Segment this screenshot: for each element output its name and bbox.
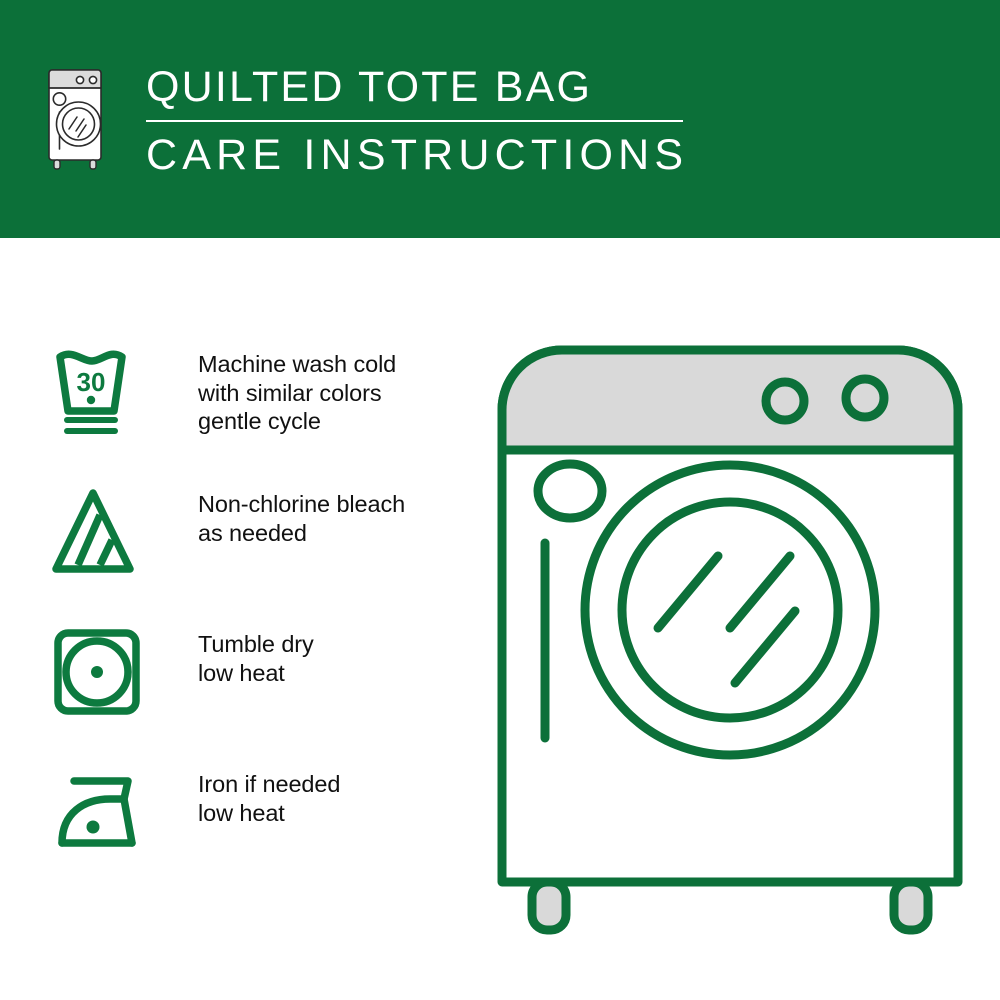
care-row-iron: Iron if needed low heat — [52, 763, 472, 903]
page-subtitle: CARE INSTRUCTIONS — [146, 131, 688, 179]
non-chlorine-bleach-icon — [52, 483, 158, 583]
wash-temperature-label: 30 — [77, 367, 106, 397]
page-header: QUILTED TOTE BAG CARE INSTRUCTIONS — [0, 0, 1000, 238]
care-row-tumble-dry: Tumble dry low heat — [52, 623, 472, 763]
page-title: QUILTED TOTE BAG — [146, 62, 688, 112]
washer-knob-right — [846, 379, 884, 417]
care-label-iron: Iron if needed low heat — [198, 763, 340, 827]
header-title-block: QUILTED TOTE BAG CARE INSTRUCTIONS — [146, 62, 688, 179]
washer-door-inner — [622, 502, 838, 718]
care-label-bleach: Non-chlorine bleach as needed — [198, 483, 405, 547]
washer-dispenser — [538, 464, 602, 518]
care-row-machine-wash: 30 Machine wash cold with similar colors… — [52, 343, 472, 483]
tumble-dry-low-icon — [52, 623, 158, 723]
wash-30-gentle-icon: 30 — [52, 343, 158, 443]
washer-leg-left — [532, 882, 566, 930]
washing-machine-icon — [44, 67, 106, 171]
front-load-washing-machine-illustration — [490, 338, 970, 938]
washer-leg-right — [894, 882, 928, 930]
washer-knob-left — [766, 382, 804, 420]
title-divider — [146, 120, 683, 122]
care-label-tumble-dry: Tumble dry low heat — [198, 623, 314, 687]
care-row-bleach: Non-chlorine bleach as needed — [52, 483, 472, 623]
page-body: 30 Machine wash cold with similar colors… — [0, 238, 1000, 1000]
care-label-machine-wash: Machine wash cold with similar colors ge… — [198, 343, 396, 436]
care-instruction-list: 30 Machine wash cold with similar colors… — [52, 343, 472, 903]
iron-low-heat-icon — [52, 763, 158, 863]
header-content: QUILTED TOTE BAG CARE INSTRUCTIONS — [44, 62, 688, 179]
washer-control-panel — [502, 350, 958, 450]
